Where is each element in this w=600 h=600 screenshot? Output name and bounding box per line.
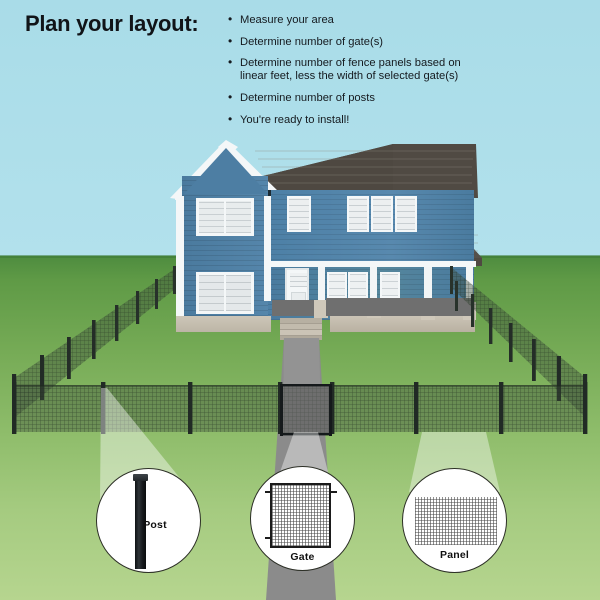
callout-gate-label: Gate [251, 551, 354, 563]
post-cap [133, 474, 148, 481]
illustration-canvas: Plan your layout: Measure your area Dete… [0, 0, 600, 600]
gate-hinge-bottom [265, 537, 271, 539]
callout-gate: Gate [250, 466, 355, 571]
callout-post-label: Post [115, 519, 195, 531]
callout-panel: Panel [402, 468, 507, 573]
callout-post: Post [96, 468, 201, 573]
gate-latch [330, 491, 337, 493]
gate-mesh [272, 485, 329, 546]
gate-hinge-top [265, 491, 271, 493]
panel-mesh [415, 497, 497, 545]
gate-graphic [270, 483, 331, 548]
callout-panel-label: Panel [403, 549, 506, 561]
panel-graphic [415, 497, 497, 545]
